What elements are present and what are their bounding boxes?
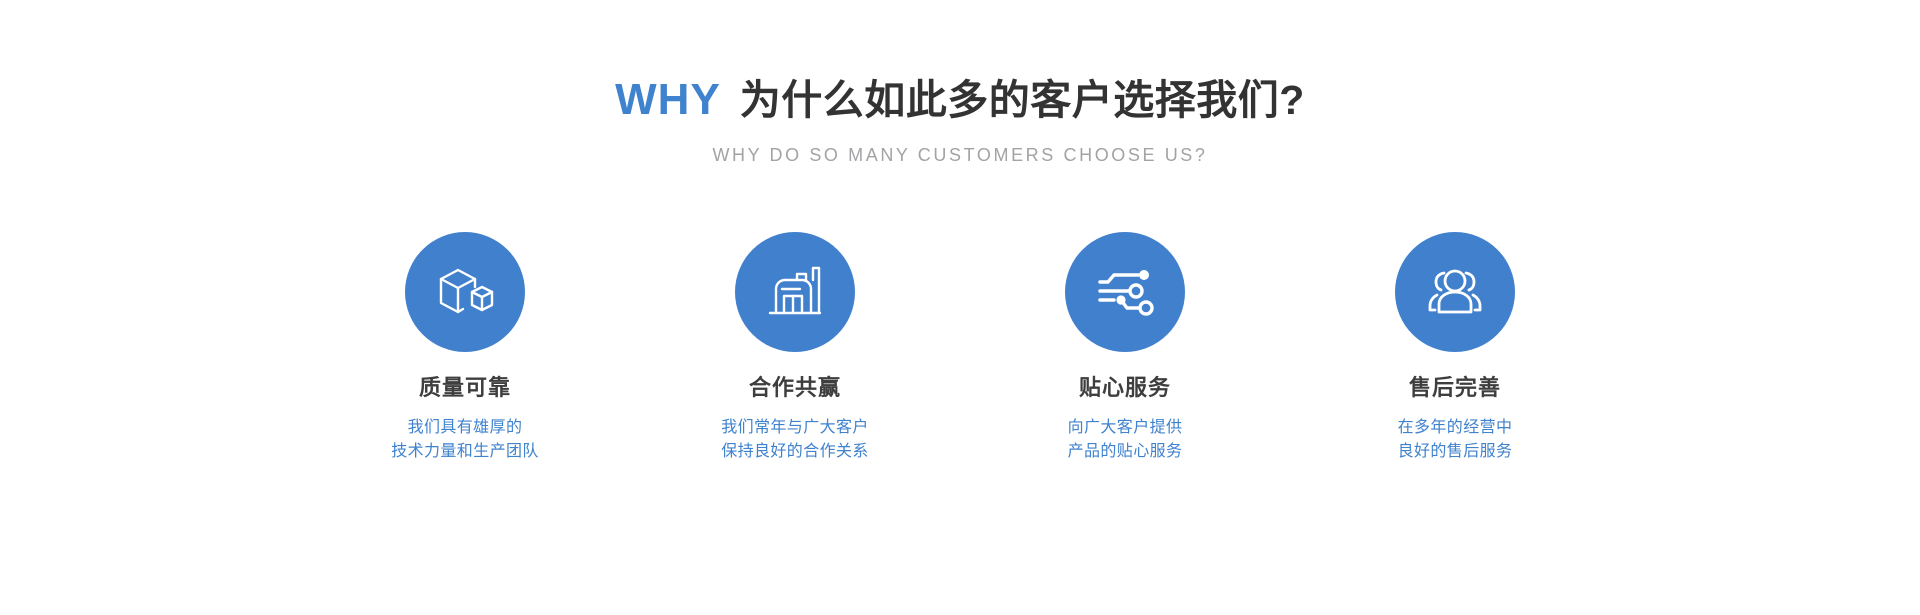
feature-list: 质量可靠 我们具有雄厚的 技术力量和生产团队 xyxy=(300,232,1620,464)
feature-item-aftersales[interactable]: 售后完善 在多年的经营中 良好的售后服务 xyxy=(1290,232,1620,464)
section-subtitle: WHY DO SO MANY CUSTOMERS CHOOSE US? xyxy=(0,146,1920,164)
page-title: WHY 为什么如此多的客户选择我们? xyxy=(0,78,1920,122)
feature-title: 质量可靠 xyxy=(419,377,511,399)
feature-description-line1: 我们常年与广大客户 xyxy=(721,416,869,440)
feature-description-line2: 产品的贴心服务 xyxy=(1068,440,1183,464)
title-accent-why: WHY xyxy=(615,78,721,122)
feature-item-cooperation[interactable]: 合作共赢 我们常年与广大客户 保持良好的合作关系 xyxy=(630,232,960,464)
section-header: WHY 为什么如此多的客户选择我们? WHY DO SO MANY CUSTOM… xyxy=(0,78,1920,164)
feature-description: 我们具有雄厚的 技术力量和生产团队 xyxy=(391,416,539,464)
feature-icon-circle xyxy=(405,232,525,352)
why-choose-us-section: WHY 为什么如此多的客户选择我们? WHY DO SO MANY CUSTOM… xyxy=(0,0,1920,615)
feature-title: 售后完善 xyxy=(1409,377,1501,399)
feature-icon-circle xyxy=(1395,232,1515,352)
feature-icon-circle xyxy=(735,232,855,352)
feature-item-quality[interactable]: 质量可靠 我们具有雄厚的 技术力量和生产团队 xyxy=(300,232,630,464)
feature-description: 在多年的经营中 良好的售后服务 xyxy=(1398,416,1513,464)
feature-description: 向广大客户提供 产品的贴心服务 xyxy=(1068,416,1183,464)
feature-description-line1: 在多年的经营中 xyxy=(1398,416,1513,440)
feature-title: 贴心服务 xyxy=(1079,377,1171,399)
users-group-icon xyxy=(1424,261,1486,323)
factory-icon xyxy=(764,261,826,323)
circuit-network-icon xyxy=(1094,261,1156,323)
feature-icon-circle xyxy=(1065,232,1185,352)
feature-description-line2: 良好的售后服务 xyxy=(1398,440,1513,464)
feature-description-line1: 我们具有雄厚的 xyxy=(391,416,539,440)
feature-description-line2: 保持良好的合作关系 xyxy=(721,440,869,464)
feature-description-line1: 向广大客户提供 xyxy=(1068,416,1183,440)
title-main-text: 为什么如此多的客户选择我们? xyxy=(740,80,1305,121)
feature-item-service[interactable]: 贴心服务 向广大客户提供 产品的贴心服务 xyxy=(960,232,1290,464)
package-box-icon xyxy=(434,261,496,323)
feature-title: 合作共赢 xyxy=(749,377,841,399)
feature-description: 我们常年与广大客户 保持良好的合作关系 xyxy=(721,416,869,464)
feature-description-line2: 技术力量和生产团队 xyxy=(391,440,539,464)
